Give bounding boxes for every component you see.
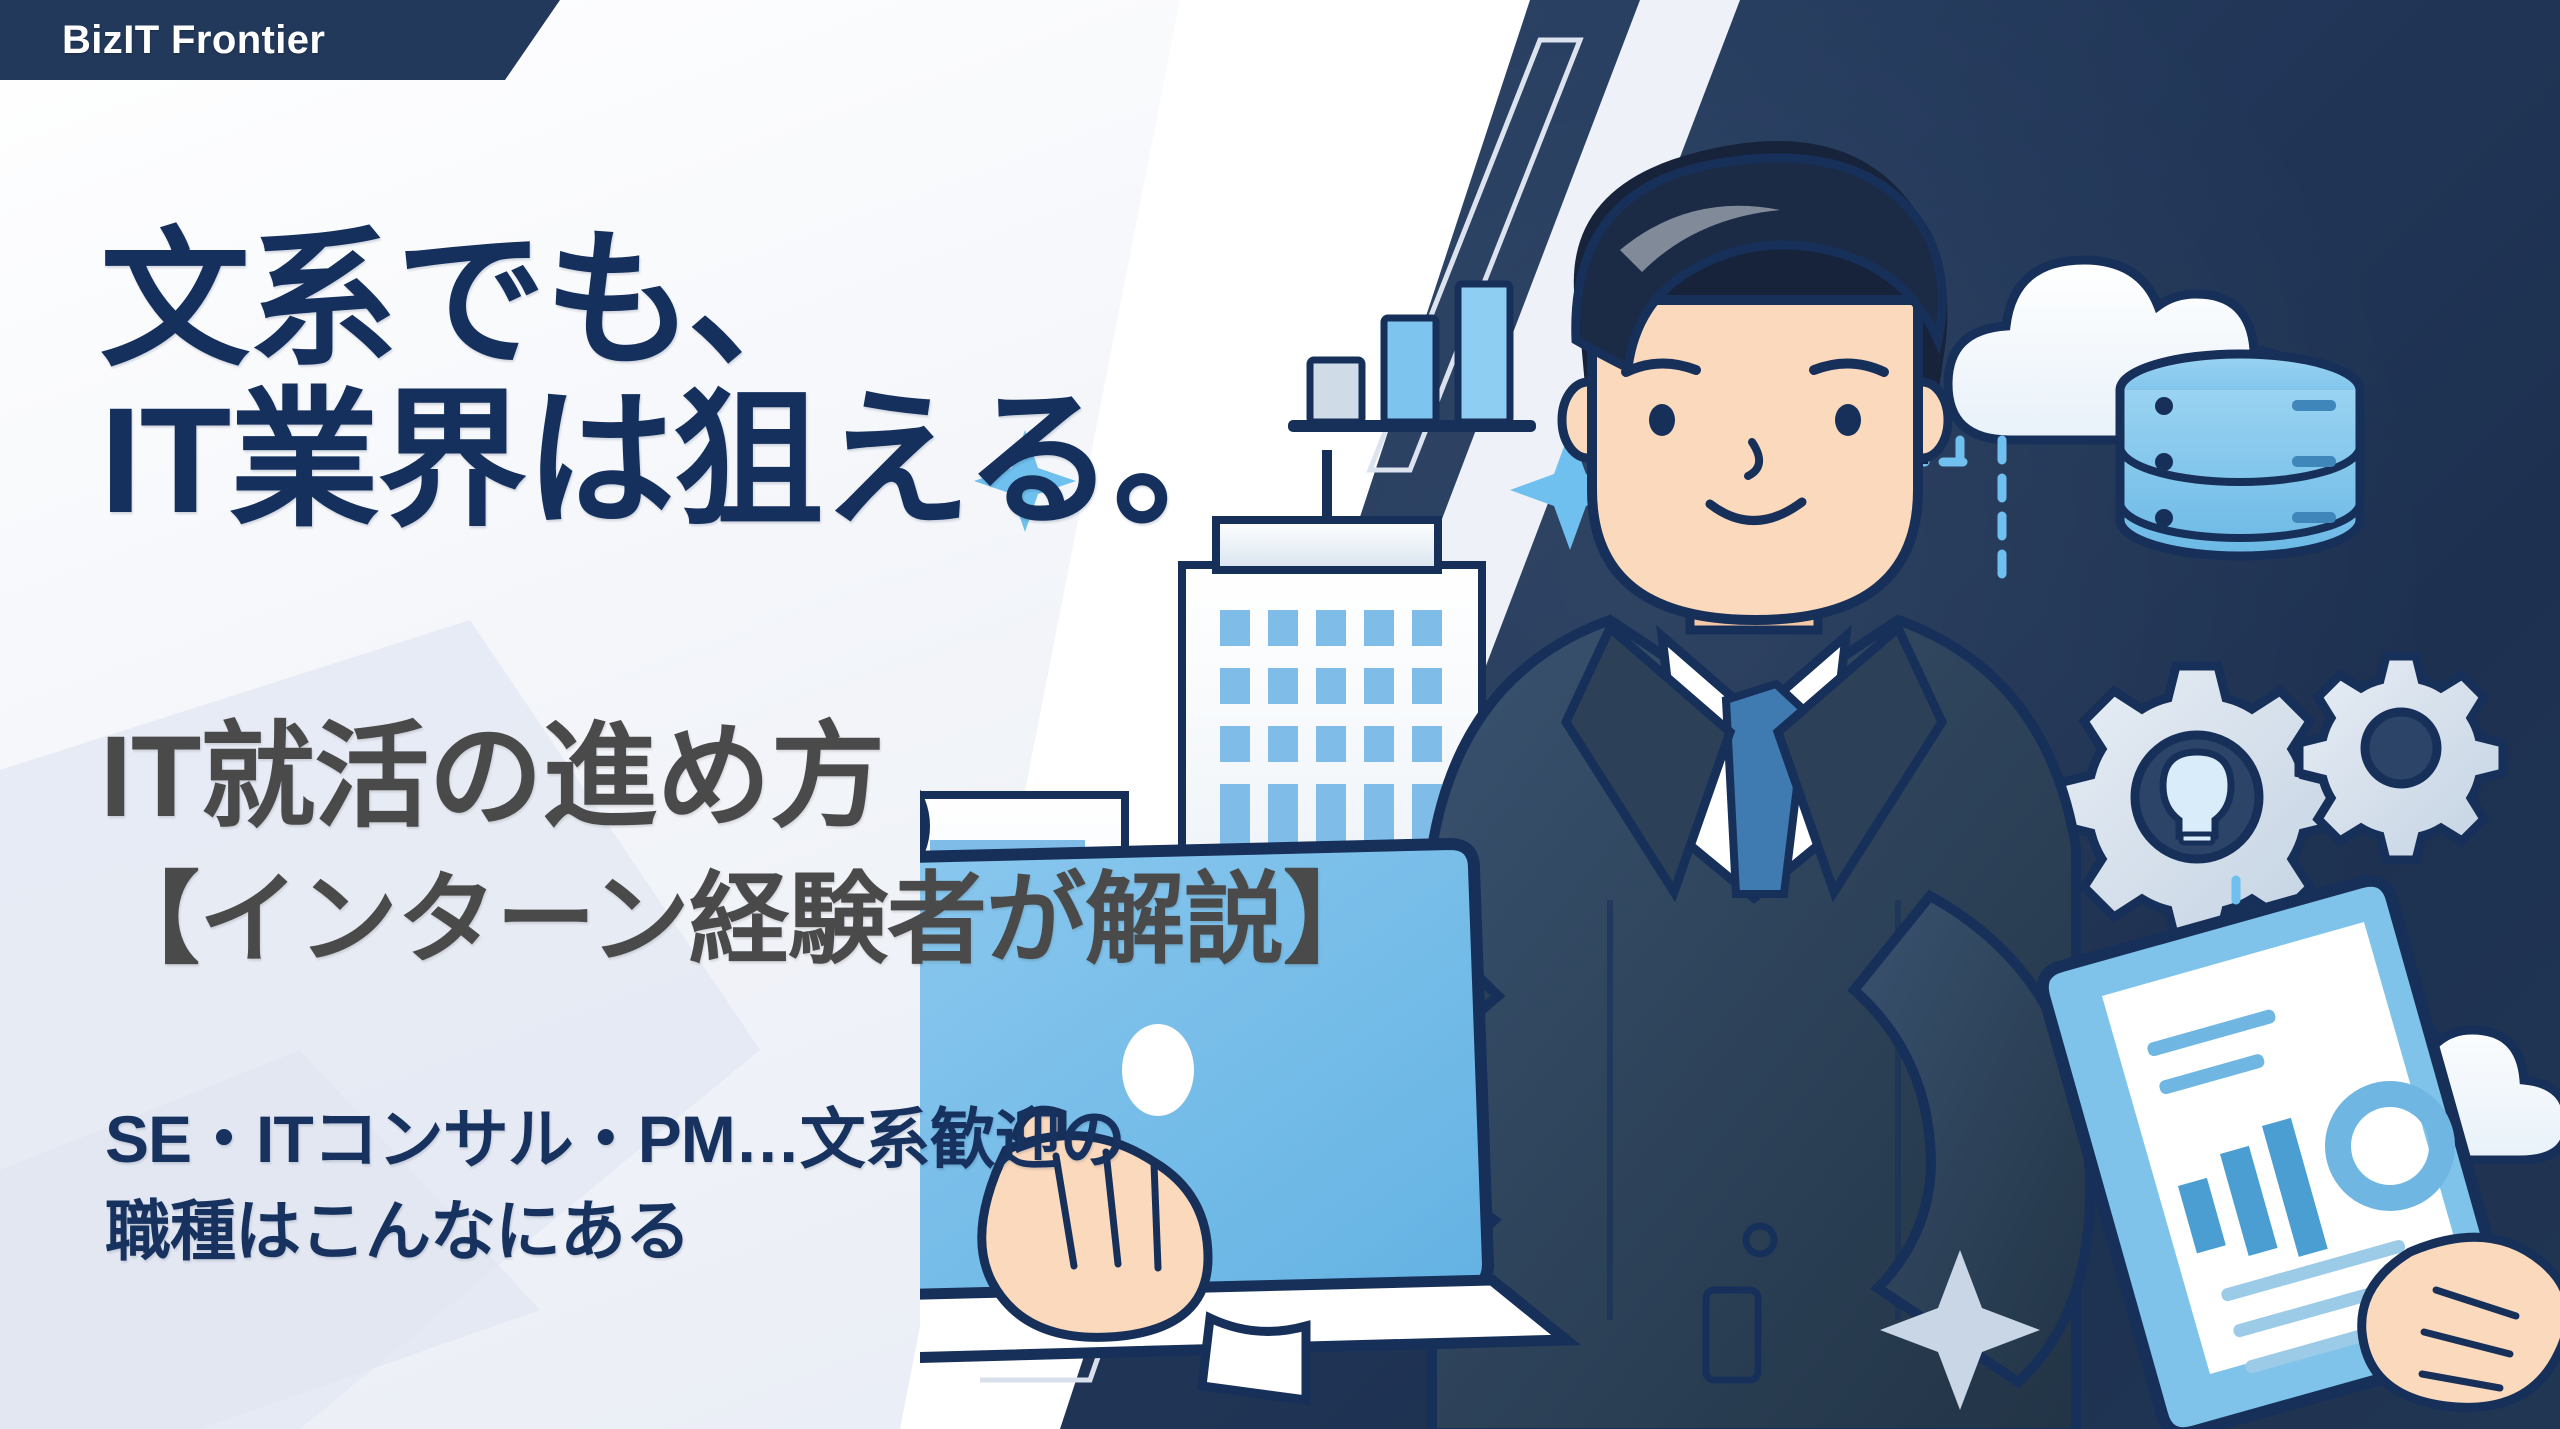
text-block: 文系でも、 IT業界は狙える。 IT就活の進め方 【インターン経験者が解説】 S… — [0, 0, 1620, 1429]
lead-line-1: SE・ITコンサル・PM…文系歓迎の — [105, 1098, 1125, 1181]
thumbnail-canvas: BizIT Frontier — [0, 0, 2560, 1429]
lead-line-2: 職種はこんなにある — [105, 1190, 690, 1273]
database-icon — [2120, 354, 2360, 556]
headline-line-2: IT業界は狙える。 — [100, 385, 1261, 535]
hand-right — [2362, 1237, 2560, 1407]
headline-line-1: 文系でも、 — [100, 225, 836, 375]
subheading-line-1: IT就活の進め方 — [100, 720, 884, 835]
subheading-line-2: 【インターン経験者が解説】 — [100, 870, 1382, 970]
gear-icon — [2299, 656, 2503, 860]
